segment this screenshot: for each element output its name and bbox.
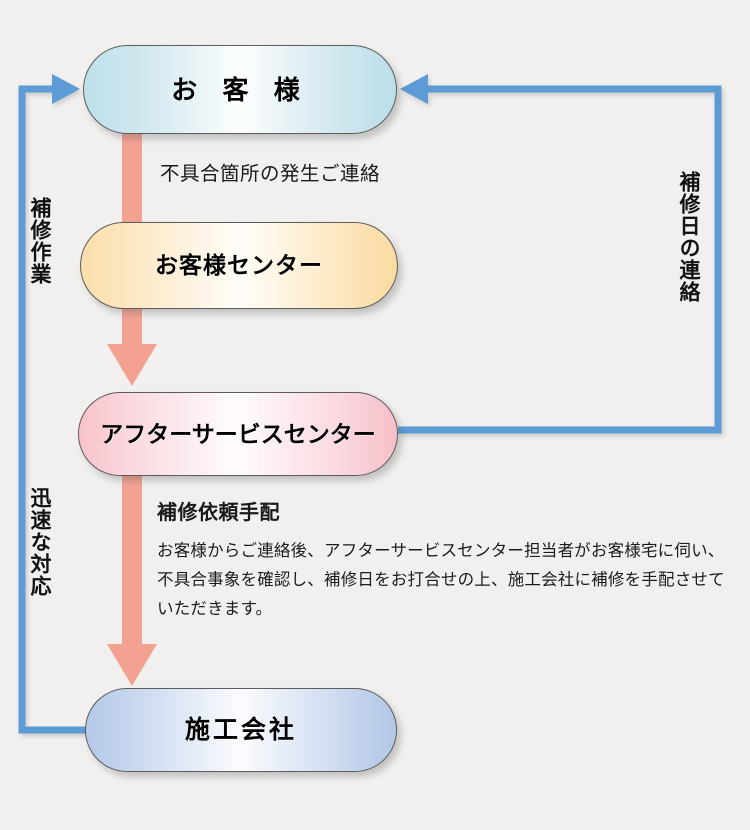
edge-label-report: 不具合箇所の発生ご連絡 — [160, 157, 380, 186]
description-paragraph: お客様からご連絡後、アフターサービスセンター担当者がお客様宅に伺い、不具合事象を… — [157, 537, 732, 624]
edge-label-repair-work: 補修作業 — [29, 197, 50, 285]
flow-arrow-after-to-builder — [107, 474, 157, 686]
flow-arrow-center-to-after — [107, 306, 157, 386]
node-after-service-center-label: アフターサービスセンター — [100, 423, 376, 446]
node-customer-label: お 客 様 — [171, 77, 308, 103]
diagram-canvas: お 客 様 お客様センター アフターサービスセンター 施工会社 不具合箇所の発生… — [0, 0, 750, 830]
node-customer-center[interactable]: お客様センター — [80, 222, 398, 309]
node-customer-center-label: お客様センター — [155, 254, 323, 277]
edge-label-fast-response: 迅速な対応 — [29, 487, 50, 597]
return-arrow-after-to-customer — [398, 74, 718, 430]
node-customer[interactable]: お 客 様 — [83, 45, 397, 134]
node-construction-company-label: 施工会社 — [185, 718, 297, 743]
edge-label-repair-day-contact: 補修日の連絡 — [678, 171, 699, 303]
flow-arrow-customer-to-center — [122, 132, 142, 224]
node-after-service-center[interactable]: アフターサービスセンター — [78, 392, 398, 476]
return-arrow-builder-to-customer — [22, 74, 88, 730]
node-construction-company[interactable]: 施工会社 — [85, 688, 397, 772]
edge-label-repair-request-heading: 補修依頼手配 — [157, 496, 280, 525]
